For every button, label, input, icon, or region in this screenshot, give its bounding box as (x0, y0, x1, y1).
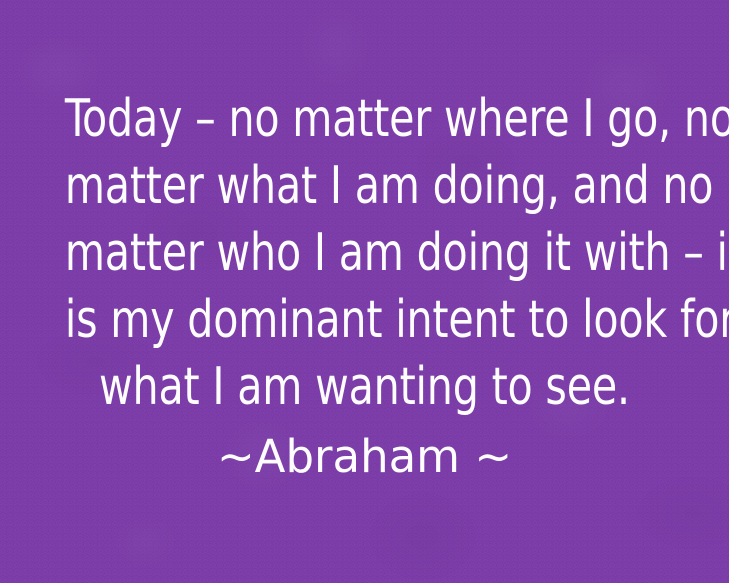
quote-line-3: matter who I am doing it with – it (65, 220, 664, 287)
quote-line-5: what I am wanting to see. (65, 354, 664, 421)
quote-line-1: Today – no matter where I go, no (65, 86, 664, 153)
quote-attribution: ~Abraham ~ (24, 425, 705, 489)
quote-text-block: Today – no matter where I go, no matter … (0, 86, 729, 489)
quote-line-2: matter what I am doing, and no (65, 153, 664, 220)
quote-line-4: is my dominant intent to look for (65, 287, 664, 354)
quote-card: Today – no matter where I go, no matter … (0, 0, 729, 583)
